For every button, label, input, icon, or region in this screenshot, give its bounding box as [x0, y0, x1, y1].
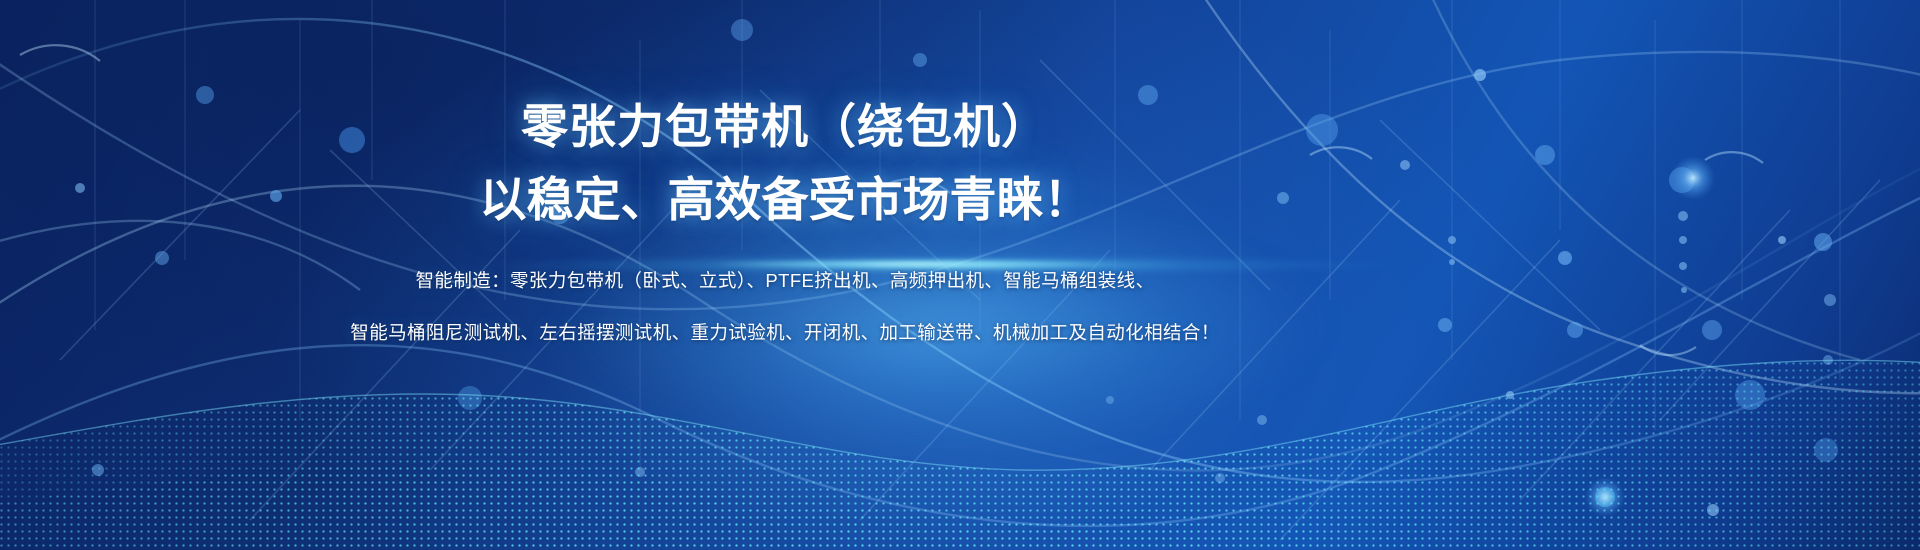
- headline-line-2: 以稳定、高效备受市场青睐！: [480, 169, 1091, 232]
- headline-line-1: 零张力包带机（绕包机）: [521, 96, 1049, 159]
- subtitle-line-2: 智能马桶阻尼测试机、左右摇摆测试机、重力试验机、开闭机、加工输送带、机械加工及自…: [350, 319, 1219, 347]
- subtitle-line-1: 智能制造：零张力包带机（卧式、立式）、PTFE挤出机、高频押出机、智能马桶组装线…: [416, 267, 1155, 295]
- hero-banner: 零张力包带机（绕包机） 以稳定、高效备受市场青睐！ 智能制造：零张力包带机（卧式…: [0, 0, 1920, 550]
- banner-content: 零张力包带机（绕包机） 以稳定、高效备受市场青睐！ 智能制造：零张力包带机（卧式…: [0, 0, 1570, 550]
